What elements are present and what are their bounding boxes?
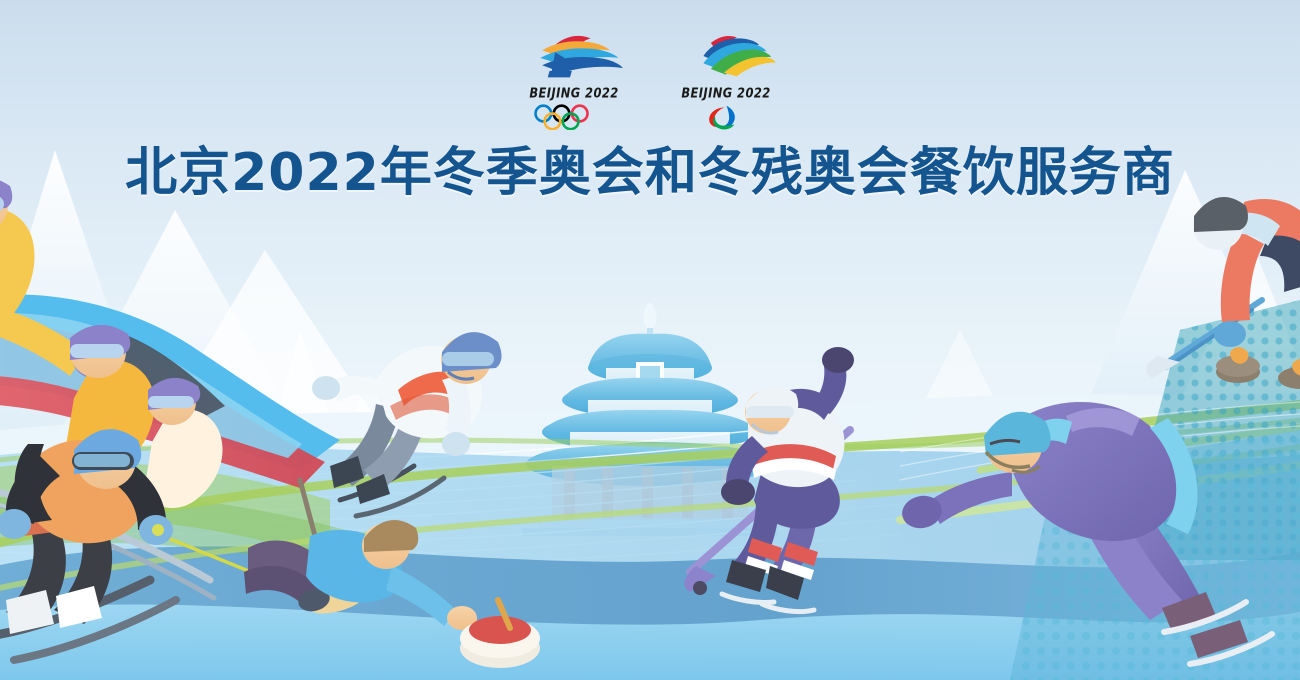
olympic-logo: BEIJING 2022 [519, 30, 629, 130]
ice-hockey-player-illustration [684, 347, 854, 612]
olympic-wordmark: BEIJING 2022 [529, 85, 618, 101]
short-track-speed-skater-illustration [312, 332, 502, 516]
beijing-2022-catering-service-banner: BEIJING 2022 BEIJING 2022 [0, 0, 1300, 680]
beijing-2022-olympic-emblem-icon [518, 30, 629, 82]
curler-delivering-illustration [1146, 197, 1300, 389]
emblem-group: BEIJING 2022 BEIJING 2022 [0, 30, 1300, 130]
agitos-icon [678, 104, 773, 130]
speed-skater-illustration [899, 402, 1272, 664]
page-title: 北京2022年冬季奥会和冬残奥会餐饮服务商 [0, 142, 1300, 204]
paralympic-wordmark: BEIJING 2022 [681, 85, 770, 101]
beijing-2022-paralympic-emblem-icon [670, 30, 781, 82]
paralympic-logo: BEIJING 2022 [671, 30, 781, 130]
olympic-rings-icon [526, 104, 621, 130]
curling-stone-right [1216, 347, 1260, 383]
